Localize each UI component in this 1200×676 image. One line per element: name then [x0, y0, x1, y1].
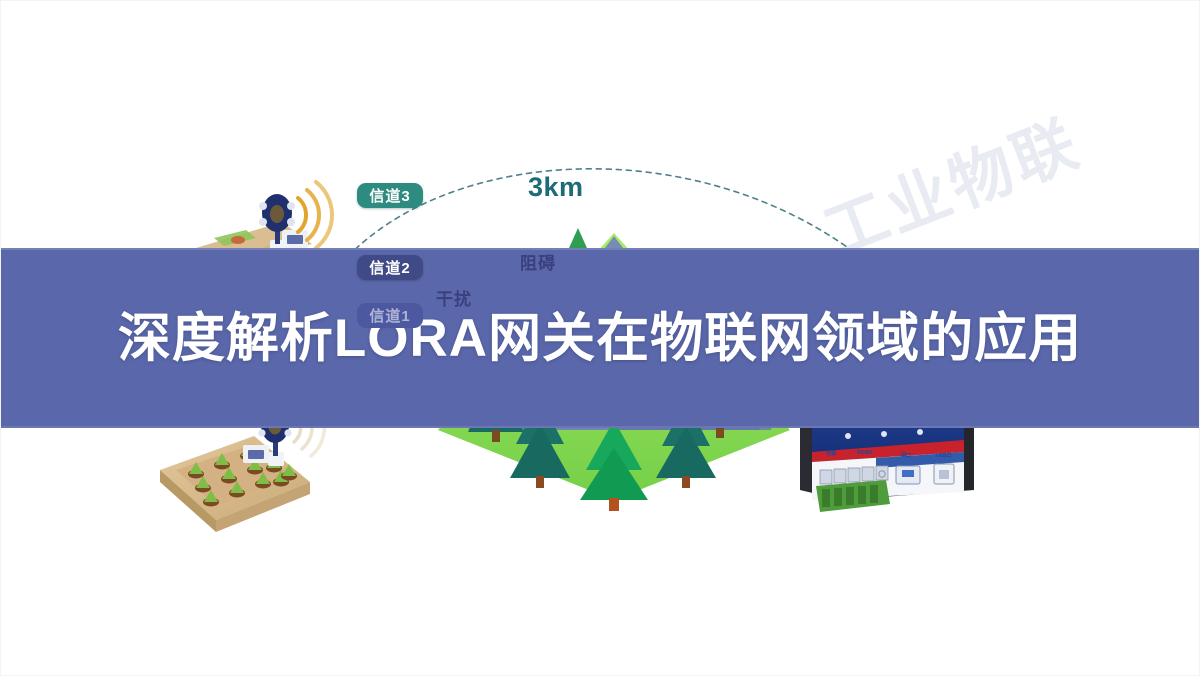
banner-stage: 工业物联 3km 信道3 信道2 信道1 阻碍 干扰 LORA网关 LORA无线… [0, 0, 1200, 676]
channel-badge-1[interactable]: 信道1 [357, 303, 423, 328]
obstruction-label: 阻碍 [520, 249, 556, 274]
gateway-port-network-label: 网口 [901, 452, 911, 459]
channel-badge-1-label: 信道1 [369, 305, 410, 326]
gateway-port-rs485-label: RS485 [857, 450, 872, 456]
interference-label: 干扰 [436, 285, 472, 310]
channel-badge-2[interactable]: 信道2 [357, 255, 423, 280]
distance-label: 3km [528, 172, 584, 203]
channel-badge-3[interactable]: 信道3 [357, 183, 423, 208]
channel-badge-3-label: 信道3 [369, 185, 410, 206]
channel-badge-2-label: 信道2 [369, 257, 410, 278]
gateway-port-usb-label: USB口 [936, 452, 952, 459]
gateway-port-power-label: 电源 [826, 450, 836, 457]
title-banner-band: 深度解析LORA网关在物联网领域的应用 [0, 248, 1200, 428]
page-title: 深度解析LORA网关在物联网领域的应用 [118, 312, 1082, 365]
sensor-board-lower [160, 436, 310, 532]
